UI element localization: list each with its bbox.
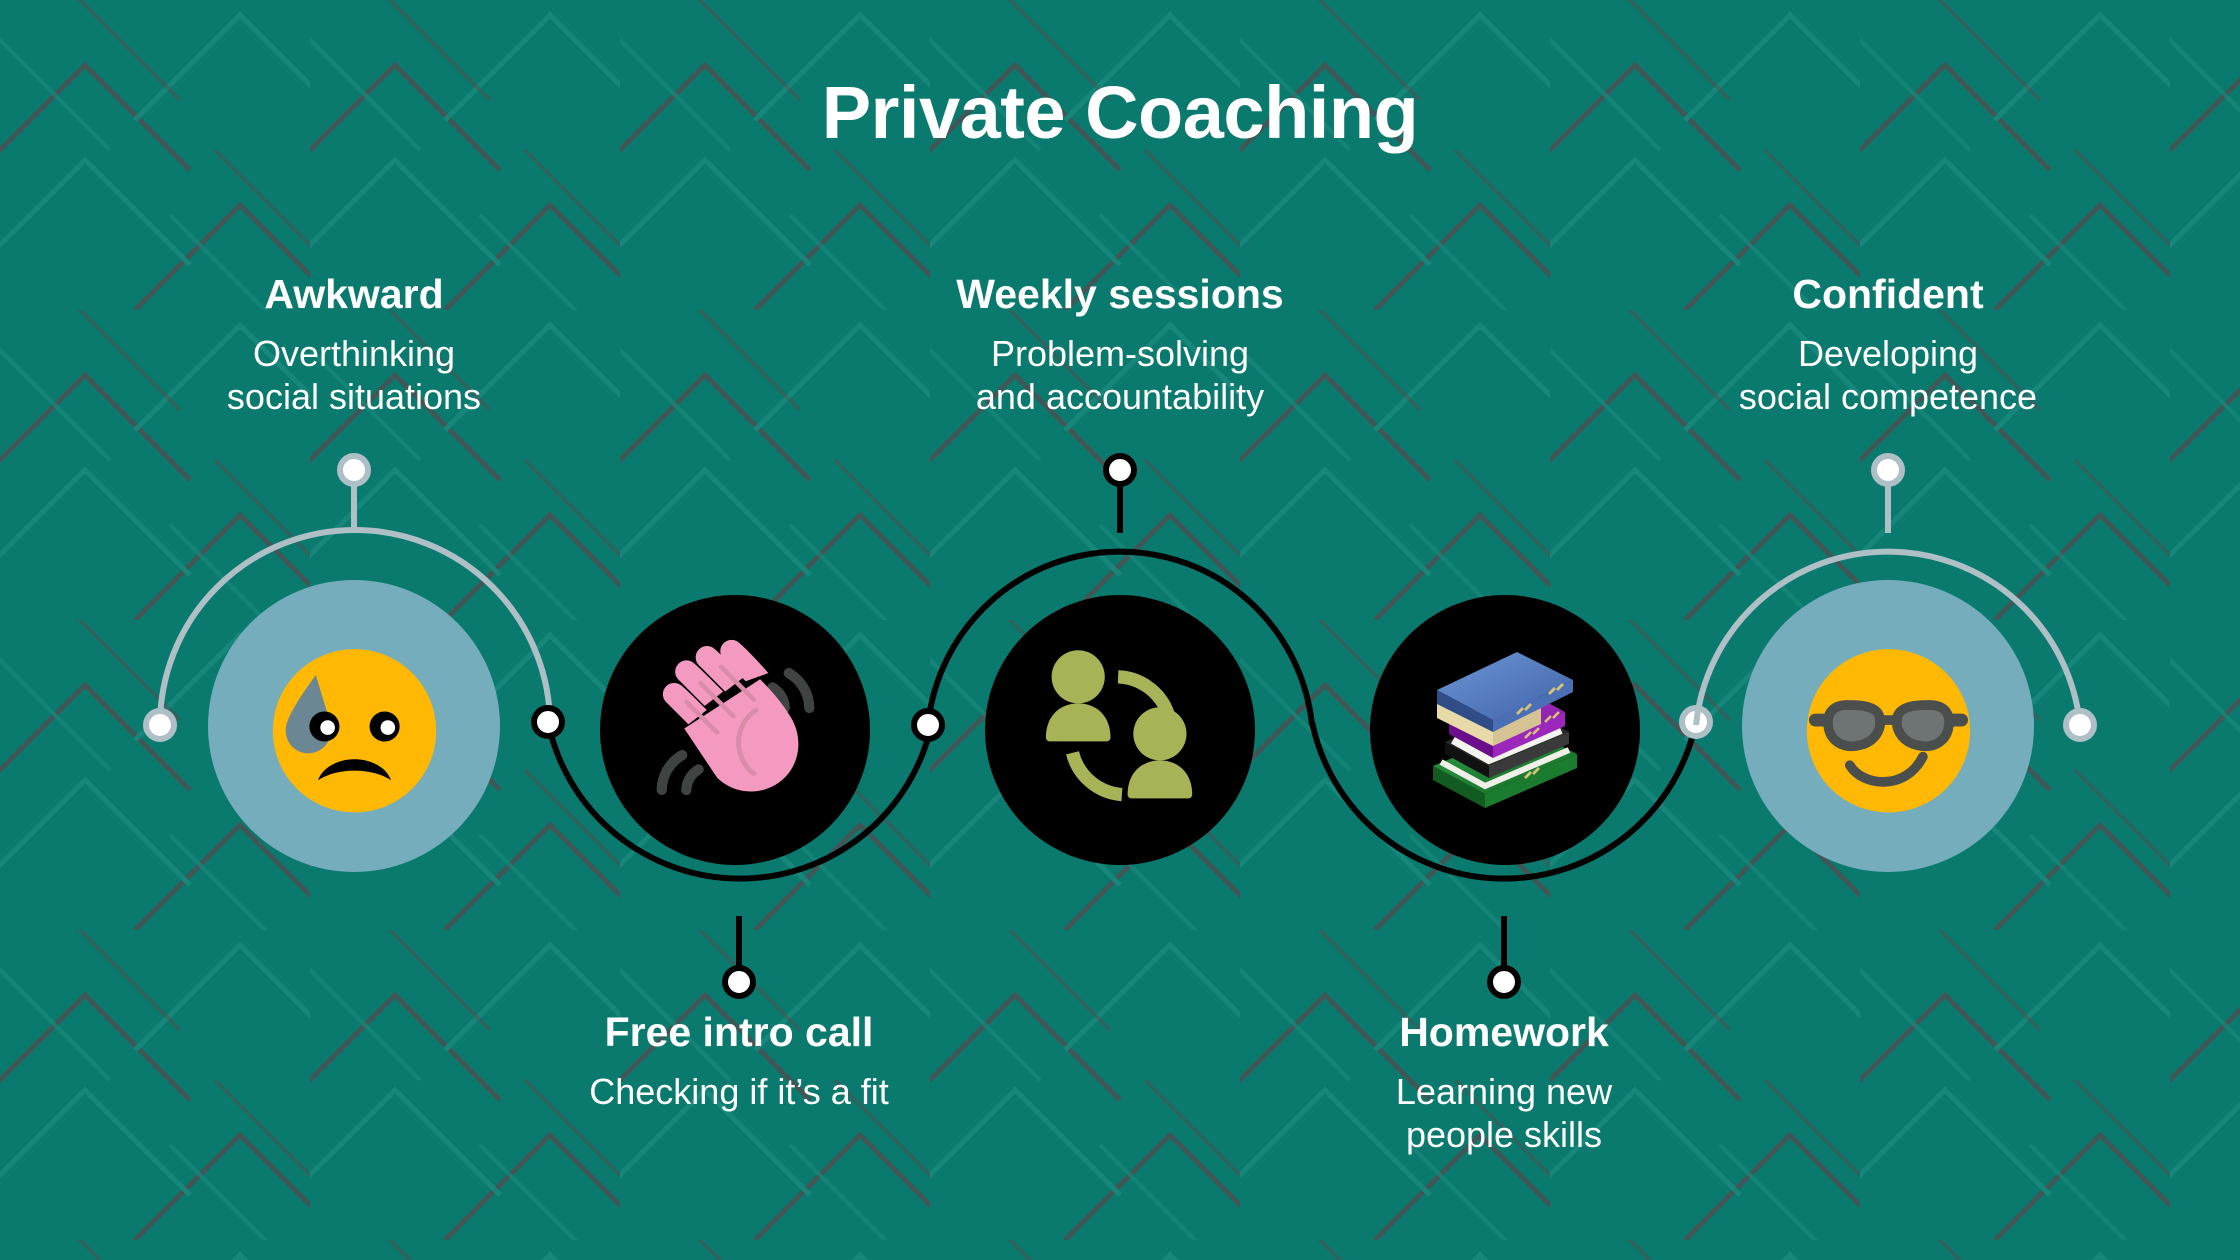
label-weekly-sessions-subtext: Problem-solving and accountability — [880, 333, 1360, 418]
label-weekly-sessions: Weekly sessions Problem-solving and acco… — [880, 272, 1360, 418]
step-node-weekly-sessions[interactable] — [985, 595, 1255, 865]
label-confident: Confident Developing social competence — [1648, 272, 2128, 418]
label-confident-heading: Confident — [1648, 272, 2128, 317]
step-node-awkward[interactable] — [208, 580, 500, 872]
label-free-intro-call-heading: Free intro call — [499, 1010, 979, 1055]
smiling-face-with-sunglasses-icon — [1781, 619, 1996, 834]
step-node-free-intro-call[interactable] — [600, 595, 870, 865]
step-node-confident[interactable] — [1742, 580, 2034, 872]
label-awkward-heading: Awkward — [114, 272, 594, 317]
step-node-homework[interactable] — [1370, 595, 1640, 865]
worried-face-with-sweat-icon — [247, 619, 462, 834]
label-homework-subtext: Learning new people skills — [1264, 1071, 1744, 1156]
label-weekly-sessions-heading: Weekly sessions — [880, 272, 1360, 317]
label-free-intro-call: Free intro call Checking if it’s a fit — [499, 1010, 979, 1114]
label-confident-subtext: Developing social competence — [1648, 333, 2128, 418]
label-awkward: Awkward Overthinking social situations — [114, 272, 594, 418]
label-free-intro-call-subtext: Checking if it’s a fit — [499, 1071, 979, 1113]
waving-hand-icon — [633, 628, 838, 833]
label-homework-heading: Homework — [1264, 1010, 1744, 1055]
two-people-exchange-icon — [1025, 635, 1215, 825]
page-title: Private Coaching — [0, 70, 2240, 155]
stack-of-books-icon — [1405, 630, 1605, 830]
label-homework: Homework Learning new people skills — [1264, 1010, 1744, 1156]
label-awkward-subtext: Overthinking social situations — [114, 333, 594, 418]
